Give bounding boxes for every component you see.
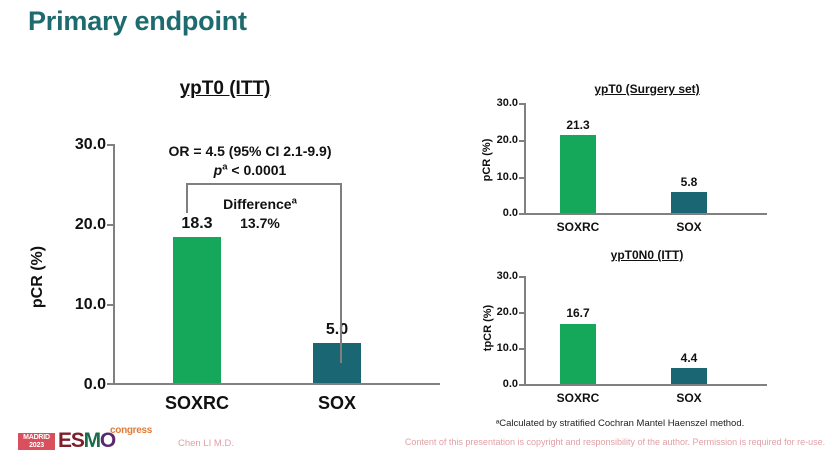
chart-ypt0-itt: ypT0 (ITT) pCR (%) 30.0 20.0 10.0 0.0 18… bbox=[0, 78, 450, 408]
badge-city: MADRID bbox=[18, 434, 55, 442]
y-tick-label-30: 30.0 bbox=[472, 270, 518, 282]
y-tick-label-30: 30.0 bbox=[472, 97, 518, 109]
chart-ypt0-surgery-set: ypT0 (Surgery set) pCR (%) 30.0 20.0 10.… bbox=[462, 82, 832, 242]
page-title: Primary endpoint bbox=[28, 6, 247, 37]
y-tick-label-20: 20.0 bbox=[50, 216, 106, 234]
chart-title: ypT0 (Surgery set) bbox=[462, 82, 832, 96]
annotation-difference-label: Differencea bbox=[180, 196, 340, 212]
y-tick-10 bbox=[107, 304, 114, 306]
copyright-text: Content of this presentation is copyrigh… bbox=[400, 437, 830, 447]
x-category-label-sox: SOX bbox=[654, 391, 724, 405]
bar-soxrc bbox=[560, 324, 596, 384]
letter-m: M bbox=[84, 429, 100, 452]
y-tick-label-10: 10.0 bbox=[50, 296, 106, 314]
y-tick-label-30: 30.0 bbox=[50, 136, 106, 154]
letter-e: E bbox=[58, 429, 71, 452]
y-tick-label-10: 10.0 bbox=[472, 342, 518, 354]
y-axis-label: pCR (%) bbox=[29, 237, 47, 317]
x-category-label-sox: SOX bbox=[287, 393, 387, 414]
y-tick-label-10: 10.0 bbox=[472, 171, 518, 183]
y-tick-0 bbox=[519, 384, 525, 386]
annotation-p-value: pa < 0.0001 bbox=[120, 162, 380, 178]
difference-superscript: a bbox=[292, 195, 297, 206]
bar-value-sox: 4.4 bbox=[659, 351, 719, 365]
y-tick-30 bbox=[519, 276, 525, 278]
bar-sox bbox=[671, 368, 707, 384]
congress-wordmark: congress bbox=[110, 425, 152, 436]
badge-year: 2023 bbox=[18, 442, 55, 450]
x-category-label-soxrc: SOXRC bbox=[543, 391, 613, 405]
y-tick-20 bbox=[519, 312, 525, 314]
x-axis-line bbox=[524, 384, 767, 386]
p-rest: < 0.0001 bbox=[228, 162, 287, 178]
y-tick-10 bbox=[519, 177, 525, 179]
presenter-name: Chen LI M.D. bbox=[178, 438, 234, 449]
p-italic: p bbox=[214, 162, 223, 178]
y-tick-0 bbox=[107, 383, 114, 385]
y-tick-20 bbox=[107, 224, 114, 226]
y-tick-10 bbox=[519, 348, 525, 350]
chart-title: ypT0N0 (ITT) bbox=[462, 248, 832, 262]
annotation-odds-ratio: OR = 4.5 (95% CI 2.1-9.9) bbox=[120, 143, 380, 159]
y-tick-label-20: 20.0 bbox=[472, 134, 518, 146]
footnote-text: ᵃCalculated by stratified Cochran Mantel… bbox=[430, 418, 810, 429]
bar-sox bbox=[671, 192, 707, 213]
y-axis-line bbox=[113, 144, 115, 384]
x-axis-line bbox=[524, 213, 767, 215]
y-tick-label-20: 20.0 bbox=[472, 306, 518, 318]
y-tick-20 bbox=[519, 140, 525, 142]
esmo-congress-logo: MADRID 2023 ESMO congress bbox=[18, 428, 146, 454]
bar-soxrc bbox=[560, 135, 596, 213]
difference-text: Difference bbox=[223, 196, 291, 212]
y-axis-line bbox=[524, 276, 526, 385]
letter-s: S bbox=[71, 429, 84, 452]
esmo-wordmark: ESMO bbox=[58, 429, 115, 453]
chart-ypt0n0-itt: ypT0N0 (ITT) tpCR (%) 30.0 20.0 10.0 0.0… bbox=[462, 248, 832, 410]
chart-title: ypT0 (ITT) bbox=[0, 78, 450, 100]
bracket-right-tick bbox=[340, 183, 342, 363]
y-tick-label-0: 0.0 bbox=[472, 378, 518, 390]
madrid-2023-badge: MADRID 2023 bbox=[18, 433, 55, 450]
y-tick-label-0: 0.0 bbox=[50, 376, 106, 394]
bracket-top-line bbox=[186, 183, 342, 185]
x-axis-line bbox=[113, 383, 440, 385]
annotation-difference-value: 13.7% bbox=[180, 215, 340, 231]
x-category-label-sox: SOX bbox=[654, 220, 724, 234]
y-axis-line bbox=[524, 103, 526, 214]
x-category-label-soxrc: SOXRC bbox=[147, 393, 247, 414]
bar-value-soxrc: 21.3 bbox=[548, 118, 608, 132]
bar-value-soxrc: 16.7 bbox=[548, 306, 608, 320]
bar-value-sox: 5.8 bbox=[659, 175, 719, 189]
y-tick-30 bbox=[107, 144, 114, 146]
y-tick-0 bbox=[519, 213, 525, 215]
x-category-label-soxrc: SOXRC bbox=[543, 220, 613, 234]
y-tick-30 bbox=[519, 103, 525, 105]
y-tick-label-0: 0.0 bbox=[472, 207, 518, 219]
